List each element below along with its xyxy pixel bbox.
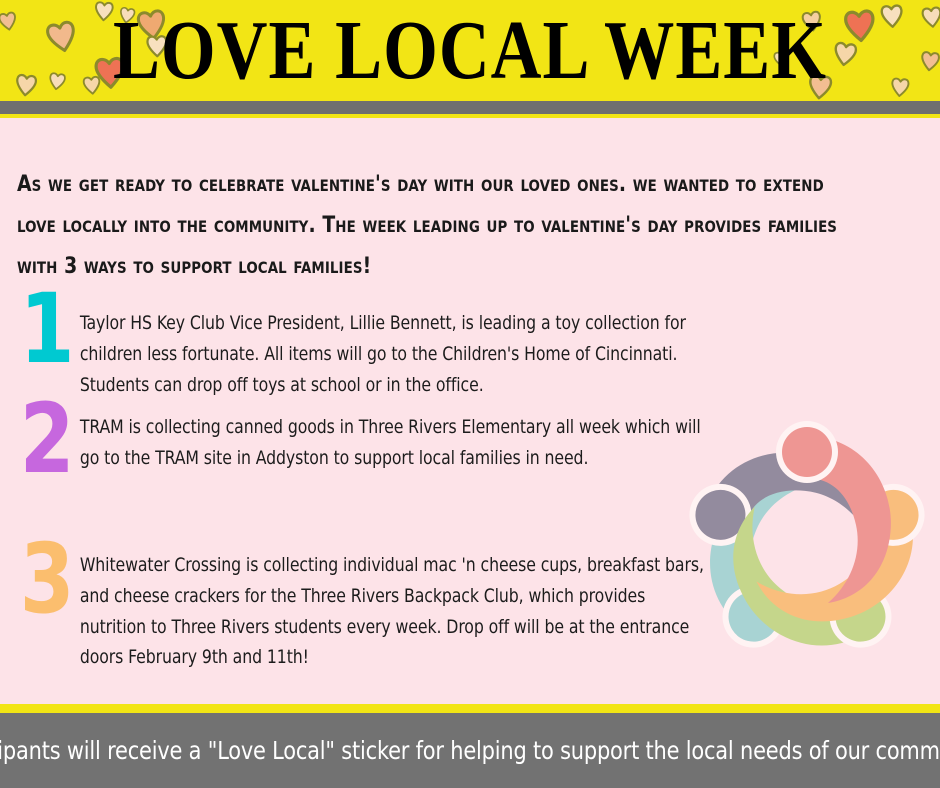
header-gray-divider xyxy=(0,101,940,114)
list-item: 1 Taylor HS Key Club Vice President, Lil… xyxy=(0,292,760,402)
item-text-1: Taylor HS Key Club Vice President, Lilli… xyxy=(78,292,705,400)
header-yellow-divider xyxy=(0,114,940,118)
item-number-2: 2 xyxy=(20,398,72,481)
list-item: 2 TRAM is collecting canned goods in Thr… xyxy=(0,402,760,542)
item-text-3: Whitewater Crossing is collecting indivi… xyxy=(78,542,705,673)
item-number-3: 3 xyxy=(20,538,72,621)
poster-root: LOVE LOCAL WEEK As we get ready to celeb… xyxy=(0,0,940,788)
item-text-2: TRAM is collecting canned goods in Three… xyxy=(78,402,705,474)
intro-paragraph: As we get ready to celebrate valentine's… xyxy=(17,164,865,287)
footer-yellow-divider xyxy=(0,704,940,713)
footer-text: Participants will receive a "Love Local"… xyxy=(0,736,940,765)
five-people-circle-icon xyxy=(676,412,938,674)
page-title: LOVE LOCAL WEEK xyxy=(0,0,940,101)
list-item: 3 Whitewater Crossing is collecting indi… xyxy=(0,542,760,642)
header-banner: LOVE LOCAL WEEK xyxy=(0,0,940,101)
footer-banner: Participants will receive a "Love Local"… xyxy=(0,713,940,788)
item-number-1: 1 xyxy=(20,288,72,371)
numbered-items-list: 1 Taylor HS Key Club Vice President, Lil… xyxy=(0,292,760,642)
